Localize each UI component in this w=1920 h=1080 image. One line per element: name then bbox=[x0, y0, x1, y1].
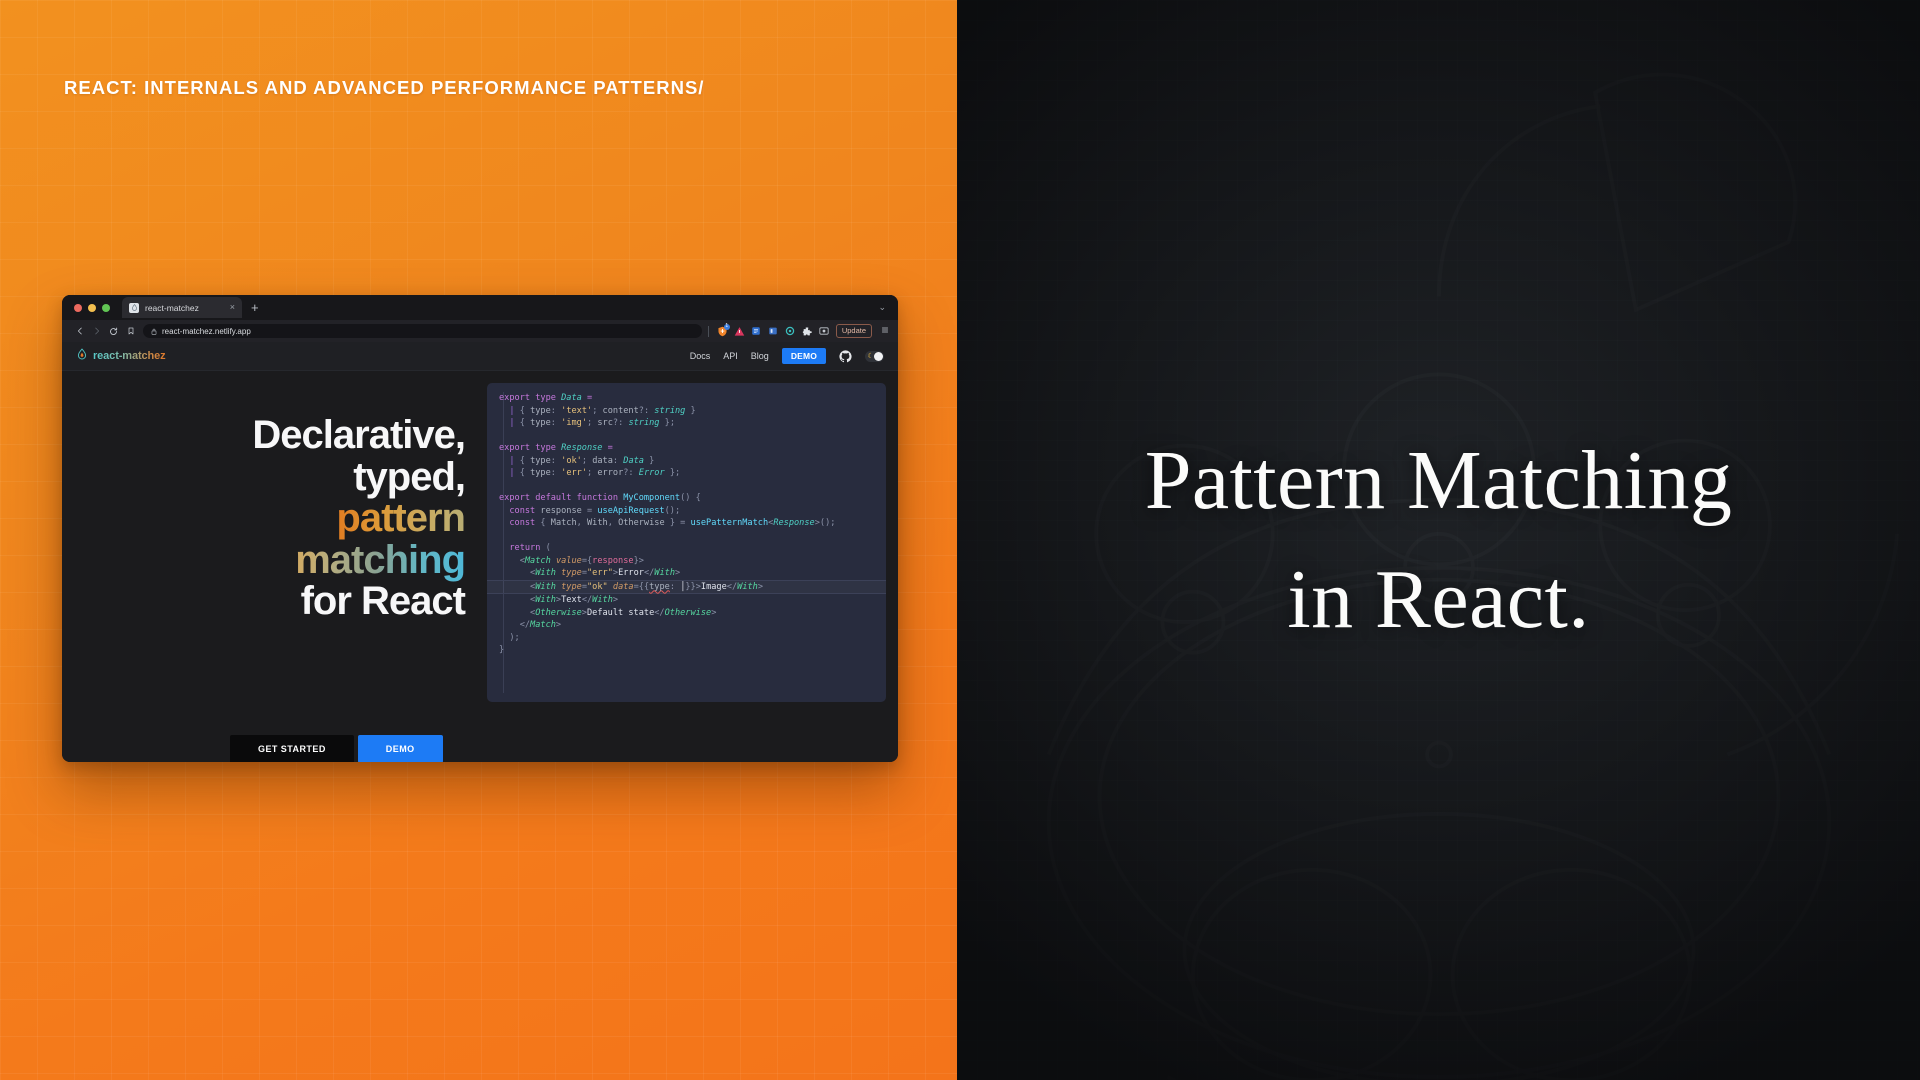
code-token: Otherwise bbox=[535, 608, 582, 618]
code-token: type bbox=[530, 418, 551, 428]
site-hero-section: Declarative, typed, pattern matching for… bbox=[62, 371, 898, 762]
reload-icon[interactable] bbox=[105, 327, 122, 336]
code-token: const bbox=[509, 506, 540, 516]
code-token: ( bbox=[546, 543, 551, 553]
site-logo-text: react-matchez bbox=[93, 350, 166, 362]
code-token: { bbox=[520, 406, 530, 416]
hero-cta-buttons: GET STARTED DEMO bbox=[230, 735, 443, 762]
code-token: 'text' bbox=[561, 406, 592, 416]
code-line: export type Response = bbox=[487, 442, 886, 455]
new-tab-button[interactable]: + bbox=[251, 301, 259, 314]
get-started-button[interactable]: GET STARTED bbox=[230, 735, 354, 762]
code-line: <With type="ok" data={{type: │}}>Image</… bbox=[487, 580, 886, 595]
toolbar-extensions: 1 bbox=[708, 324, 889, 339]
code-token: } = bbox=[665, 518, 691, 528]
code-token: type bbox=[530, 468, 551, 478]
code-token bbox=[499, 506, 509, 516]
code-token: < bbox=[499, 568, 535, 578]
code-token: Response bbox=[561, 443, 602, 453]
hamburger-menu-icon[interactable] bbox=[881, 326, 889, 336]
code-token: "err" bbox=[587, 568, 613, 578]
code-editor-panel[interactable]: export type Data = | { type: 'text'; con… bbox=[487, 383, 886, 702]
slide-canvas: REACT: INTERNALS AND ADVANCED PERFORMANC… bbox=[0, 0, 1920, 1080]
code-token: useApiRequest bbox=[597, 506, 664, 516]
browser-window-mockup: react-matchez × + ⌄ bbox=[62, 295, 898, 762]
code-lines-container: export type Data = | { type: 'text'; con… bbox=[487, 392, 886, 657]
hero-text-column: Declarative, typed, pattern matching for… bbox=[62, 371, 487, 762]
code-token: export bbox=[499, 443, 535, 453]
slide-title-line-2: in React. bbox=[1287, 553, 1589, 646]
code-line: return ( bbox=[487, 542, 886, 555]
github-icon[interactable] bbox=[839, 350, 852, 363]
nav-link-docs[interactable]: Docs bbox=[690, 351, 711, 361]
hero-demo-button[interactable]: DEMO bbox=[358, 735, 443, 762]
code-token: > bbox=[556, 620, 561, 630]
code-token: = bbox=[603, 443, 613, 453]
code-token: }> bbox=[634, 556, 644, 566]
code-token: Image bbox=[701, 582, 727, 592]
code-token: ; bbox=[587, 418, 597, 428]
site-logo[interactable]: react-matchez bbox=[76, 347, 166, 365]
code-line: <With type="err">Error</With> bbox=[487, 567, 886, 580]
code-line: export default function MyComponent() { bbox=[487, 492, 886, 505]
update-button[interactable]: Update bbox=[836, 324, 872, 339]
code-token: "ok" bbox=[587, 582, 608, 592]
code-token: < bbox=[499, 556, 525, 566]
browser-toolbar: react-matchez.netlify.app 1 bbox=[62, 320, 898, 342]
code-token: Error bbox=[618, 568, 644, 578]
code-token: > bbox=[675, 568, 680, 578]
code-token: response bbox=[540, 506, 581, 516]
code-token: 'err' bbox=[561, 468, 587, 478]
code-token: : bbox=[613, 456, 623, 466]
code-token: With bbox=[587, 518, 608, 528]
code-token bbox=[499, 481, 504, 491]
code-token: (); bbox=[665, 506, 681, 516]
code-token: : bbox=[551, 406, 561, 416]
code-token: </ bbox=[654, 608, 664, 618]
hero-line-2: typed, bbox=[353, 455, 465, 499]
code-token bbox=[499, 531, 504, 541]
code-token: { bbox=[520, 456, 530, 466]
profile-icon[interactable] bbox=[819, 326, 830, 337]
code-line: <Match value={response}> bbox=[487, 555, 886, 568]
code-token: , bbox=[577, 518, 587, 528]
hero-line-3: pattern bbox=[336, 496, 465, 540]
code-token: </ bbox=[727, 582, 737, 592]
code-line: | { type: 'text'; content?: string } bbox=[487, 405, 886, 418]
code-token: type bbox=[561, 568, 582, 578]
code-token: With bbox=[654, 568, 675, 578]
hero-line-1: Declarative, bbox=[252, 413, 465, 457]
code-token bbox=[499, 468, 509, 478]
code-token: } bbox=[644, 456, 654, 466]
code-token: </ bbox=[499, 620, 530, 630]
code-token: value bbox=[556, 556, 582, 566]
slide-title: Pattern Matching in React. bbox=[1145, 421, 1733, 660]
browser-tab-title: react-matchez bbox=[145, 303, 224, 313]
forward-arrow-icon[interactable] bbox=[88, 327, 105, 335]
code-line: <Otherwise>Default state</Otherwise> bbox=[487, 607, 886, 620]
code-token: , bbox=[608, 518, 618, 528]
code-token: ?: bbox=[613, 418, 629, 428]
code-token: function bbox=[577, 493, 624, 503]
slide-kicker: REACT: INTERNALS AND ADVANCED PERFORMANC… bbox=[64, 77, 704, 99]
code-token: data bbox=[592, 456, 613, 466]
code-token: { bbox=[520, 418, 530, 428]
dark-mode-toggle[interactable]: ☾ bbox=[865, 351, 884, 362]
code-token: string bbox=[628, 418, 659, 428]
code-token: }; bbox=[659, 418, 675, 428]
code-token: < bbox=[499, 582, 535, 592]
browser-tab-strip: react-matchez × + ⌄ bbox=[62, 295, 898, 320]
code-token: Data bbox=[623, 456, 644, 466]
droplet-icon bbox=[129, 303, 139, 313]
code-token bbox=[499, 418, 509, 428]
nav-link-blog[interactable]: Blog bbox=[751, 351, 769, 361]
hero-line-4: matching bbox=[295, 538, 465, 582]
code-token: > bbox=[758, 582, 763, 592]
code-token bbox=[499, 456, 509, 466]
code-token: With bbox=[737, 582, 758, 592]
minimize-window-button[interactable] bbox=[88, 304, 96, 312]
code-token: string bbox=[654, 406, 685, 416]
code-token: { bbox=[540, 518, 550, 528]
code-token: ; bbox=[587, 468, 597, 478]
code-token: type bbox=[649, 582, 670, 592]
gear-icon[interactable] bbox=[785, 326, 796, 337]
code-token: Error bbox=[639, 468, 665, 478]
moon-icon: ☾ bbox=[868, 352, 874, 360]
code-token: ?: bbox=[639, 406, 655, 416]
code-token: | bbox=[509, 456, 519, 466]
toolbar-divider bbox=[708, 326, 709, 337]
code-line: </Match> bbox=[487, 619, 886, 632]
code-token: } bbox=[685, 406, 695, 416]
code-token: ={{ bbox=[634, 582, 650, 592]
browser-tab[interactable]: react-matchez × bbox=[122, 297, 242, 318]
code-token: | bbox=[509, 406, 519, 416]
code-token: > bbox=[711, 608, 716, 618]
code-token: With bbox=[592, 595, 613, 605]
address-bar[interactable]: react-matchez.netlify.app bbox=[143, 324, 702, 338]
code-line bbox=[487, 530, 886, 543]
code-token: type bbox=[535, 393, 561, 403]
code-token: { bbox=[520, 468, 530, 478]
code-line: ); bbox=[487, 632, 886, 645]
puzzle-piece-icon[interactable] bbox=[802, 326, 813, 337]
code-line: const { Match, With, Otherwise } = usePa… bbox=[487, 517, 886, 530]
code-token bbox=[499, 406, 509, 416]
code-token: Data bbox=[561, 393, 582, 403]
site-navbar: react-matchez Docs API Blog DEMO ☾ bbox=[62, 342, 898, 371]
code-token: | bbox=[509, 418, 519, 428]
code-token: Default state bbox=[587, 608, 654, 618]
code-token: With bbox=[535, 582, 556, 592]
code-line: } bbox=[487, 644, 886, 657]
code-token: >(); bbox=[815, 518, 836, 528]
code-token: export default bbox=[499, 493, 577, 503]
back-arrow-icon[interactable] bbox=[71, 327, 88, 335]
window-controls bbox=[70, 304, 110, 312]
left-orange-panel: REACT: INTERNALS AND ADVANCED PERFORMANC… bbox=[0, 0, 957, 1080]
code-line: | { type: 'img'; src?: string }; bbox=[487, 417, 886, 430]
code-token: return bbox=[509, 543, 545, 553]
code-token: src bbox=[597, 418, 613, 428]
code-token: content bbox=[603, 406, 639, 416]
address-bar-url: react-matchez.netlify.app bbox=[162, 327, 251, 336]
code-token: ={ bbox=[582, 556, 592, 566]
close-icon[interactable]: × bbox=[230, 303, 235, 312]
code-token: data bbox=[613, 582, 634, 592]
code-token: export bbox=[499, 393, 535, 403]
code-line: const response = useApiRequest(); bbox=[487, 505, 886, 518]
code-token: < bbox=[499, 608, 535, 618]
code-token: Match bbox=[530, 620, 556, 630]
code-token: type bbox=[530, 456, 551, 466]
code-token: 'img' bbox=[561, 418, 587, 428]
code-token: </ bbox=[644, 568, 654, 578]
code-token: type bbox=[535, 443, 561, 453]
warning-triangle-icon[interactable] bbox=[734, 326, 745, 337]
close-window-button[interactable] bbox=[74, 304, 82, 312]
code-token: < bbox=[499, 595, 535, 605]
code-token: </ bbox=[582, 595, 592, 605]
code-token: type bbox=[561, 582, 582, 592]
code-token: }; bbox=[665, 468, 681, 478]
code-token: Otherwise bbox=[665, 608, 712, 618]
code-line: export type Data = bbox=[487, 392, 886, 405]
code-token: } bbox=[499, 645, 504, 655]
nav-demo-button[interactable]: DEMO bbox=[782, 348, 826, 364]
code-token: response bbox=[592, 556, 633, 566]
nav-link-api[interactable]: API bbox=[723, 351, 738, 361]
code-line bbox=[487, 480, 886, 493]
code-token: : bbox=[551, 418, 561, 428]
code-line: | { type: 'ok'; data: Data } bbox=[487, 455, 886, 468]
code-token: error bbox=[597, 468, 623, 478]
code-line bbox=[487, 430, 886, 443]
code-token: : bbox=[670, 582, 680, 592]
code-token: Text bbox=[561, 595, 582, 605]
code-token: : bbox=[551, 468, 561, 478]
code-token bbox=[499, 543, 509, 553]
document-icon[interactable] bbox=[751, 326, 762, 337]
code-token: Match bbox=[551, 518, 577, 528]
toggle-knob bbox=[874, 352, 883, 361]
code-token: ); bbox=[499, 633, 520, 643]
code-token: Response bbox=[773, 518, 814, 528]
code-token: > bbox=[613, 595, 618, 605]
code-token: MyComponent bbox=[623, 493, 680, 503]
code-token: Match bbox=[525, 556, 551, 566]
right-dark-panel: Pattern Matching in React. bbox=[957, 0, 1920, 1080]
code-token: = bbox=[582, 506, 598, 516]
hero-line-5: for React bbox=[301, 579, 465, 623]
code-token: With bbox=[535, 568, 556, 578]
code-token: () { bbox=[680, 493, 701, 503]
code-line: <With>Text</With> bbox=[487, 594, 886, 607]
code-token: | bbox=[509, 468, 519, 478]
slide-title-line-1: Pattern Matching bbox=[1145, 434, 1733, 527]
droplet-flame-icon bbox=[76, 347, 88, 365]
code-token: ; bbox=[582, 456, 592, 466]
hero-headline: Declarative, typed, pattern matching for… bbox=[252, 415, 465, 623]
code-token: : bbox=[551, 456, 561, 466]
code-token: }}> bbox=[685, 582, 701, 592]
shield-icon[interactable]: 1 bbox=[717, 326, 728, 337]
code-token: = bbox=[582, 393, 592, 403]
code-token: ; bbox=[592, 406, 602, 416]
code-token: const bbox=[509, 518, 540, 528]
lock-icon bbox=[151, 322, 157, 340]
maximize-window-button[interactable] bbox=[102, 304, 110, 312]
code-token: usePatternMatch bbox=[691, 518, 769, 528]
chevron-down-icon[interactable]: ⌄ bbox=[878, 302, 886, 313]
code-token: type bbox=[530, 406, 551, 416]
bookmark-icon[interactable] bbox=[122, 327, 139, 335]
code-token: With bbox=[535, 595, 556, 605]
shield-badge: 1 bbox=[724, 324, 730, 330]
code-line: | { type: 'err'; error?: Error }; bbox=[487, 467, 886, 480]
site-nav-links: Docs API Blog DEMO ☾ bbox=[690, 348, 884, 364]
code-token: 'ok' bbox=[561, 456, 582, 466]
code-token bbox=[499, 431, 504, 441]
code-token bbox=[499, 518, 509, 528]
code-token: Otherwise bbox=[618, 518, 665, 528]
code-token: ?: bbox=[623, 468, 639, 478]
notes-icon[interactable] bbox=[768, 326, 779, 337]
